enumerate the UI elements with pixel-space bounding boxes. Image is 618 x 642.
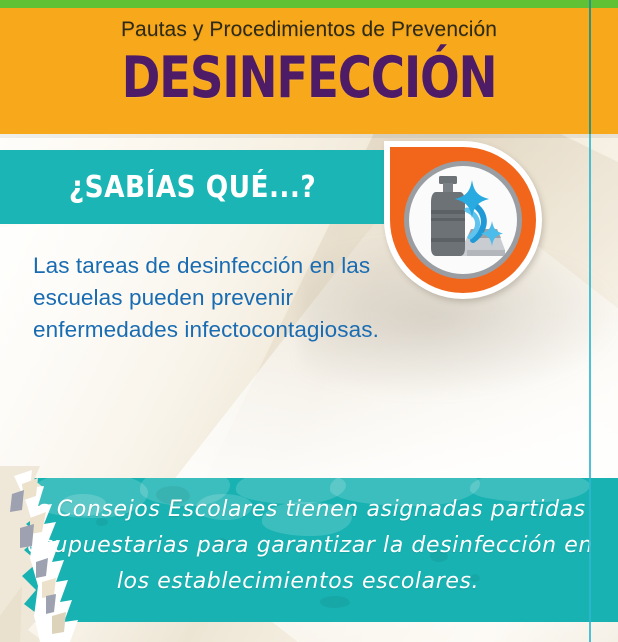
header-subtitle: Pautas y Procedimientos de Prevención bbox=[0, 18, 618, 42]
disinfection-badge bbox=[390, 147, 536, 293]
badge-inner-disc bbox=[409, 166, 517, 274]
quote-banner: Los Consejos Escolares tienen asignadas … bbox=[0, 478, 618, 622]
sabias-que-label: ¿SABÍAS QUÉ...? bbox=[68, 170, 315, 205]
spray-bottle-sparkle-icon bbox=[409, 166, 517, 274]
vertical-guide-line-top bbox=[589, 0, 591, 134]
page-title: DESINFECCIÓN bbox=[56, 50, 563, 107]
body-paragraph: Las tareas de desinfección en las escuel… bbox=[33, 250, 383, 346]
quote-text: Los Consejos Escolares tienen asignadas … bbox=[0, 492, 596, 600]
infographic-poster: Pautas y Procedimientos de Prevención DE… bbox=[0, 0, 618, 642]
sabias-que-banner: ¿SABÍAS QUÉ...? bbox=[0, 150, 384, 224]
